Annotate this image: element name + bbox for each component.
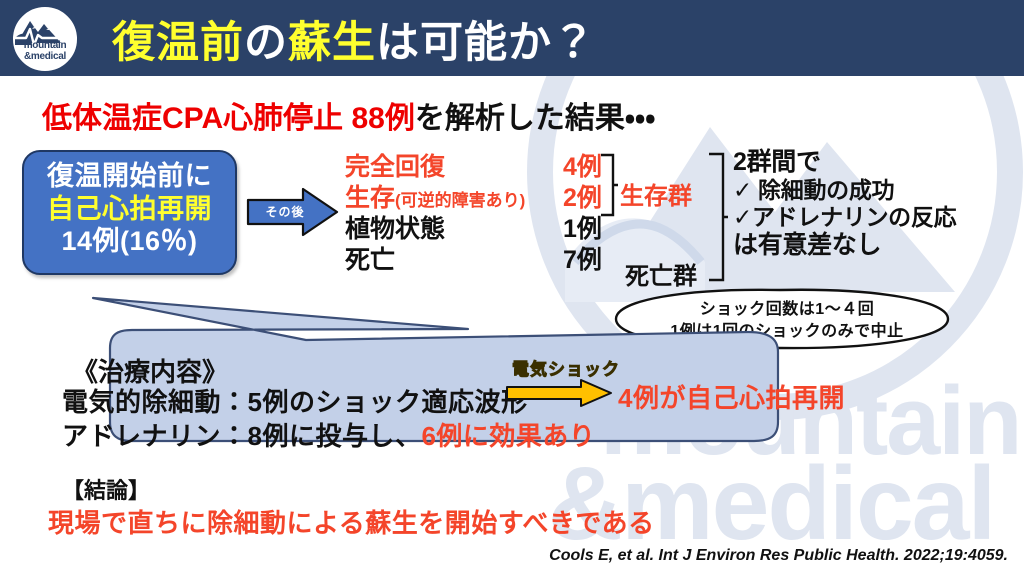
- title-segment-1: 復温前: [112, 19, 244, 67]
- bluebox-line-3: 14例(16％): [24, 225, 235, 258]
- electric-shock-arrow-icon: [505, 378, 613, 408]
- electric-shock-label: 電気ショック: [512, 355, 620, 380]
- outcome-row: 植物状態 1例: [345, 214, 665, 245]
- logo-text-mountain: mountain: [13, 41, 77, 51]
- group-label-survivors: 生存群: [620, 176, 692, 211]
- survivor-group-bracket: [597, 153, 619, 217]
- page-title: 復温前の蘇生は可能か？: [112, 8, 596, 70]
- analysis-line-3: ✓アドレナリンの反応: [733, 204, 1023, 231]
- title-segment-4: は可能か？: [376, 19, 596, 67]
- subtitle-red: 低体温症CPA心肺停止 88例: [42, 102, 415, 135]
- rosc-before-rewarming-box: 復温開始前に 自己心拍再開 14例(16％): [22, 150, 237, 275]
- analysis-line-1: 2群間で: [733, 148, 1023, 177]
- logo-text-medical: &medical: [13, 52, 77, 62]
- subtitle: 低体温症CPA心肺停止 88例を解析した結果・・・: [42, 93, 655, 137]
- shock-result-text: 4例が自己心拍再開: [618, 378, 845, 415]
- outcome-label: 植物状態: [345, 214, 445, 245]
- outcome-label: 生存(可逆的障害あり): [345, 183, 525, 216]
- bluebox-line-2: 自己心拍再開: [24, 193, 235, 226]
- adrenaline-text-black: アドレナリン：8例に投与し、: [62, 421, 421, 451]
- outcome-label-sub: (可逆的障害あり): [395, 191, 525, 210]
- conclusion-heading: 【結論】: [62, 473, 150, 505]
- after-arrow-label: その後: [256, 203, 314, 220]
- analysis-line-4: は有意差なし: [733, 231, 1023, 260]
- group-label-deceased: 死亡群: [625, 256, 697, 291]
- citation: Cools E, et al. Int J Environ Res Public…: [0, 547, 1008, 565]
- subtitle-black: を解析した結果・・・: [415, 102, 656, 135]
- treatment-adrenaline-line: アドレナリン：8例に投与し、6例に効果あり: [62, 416, 595, 453]
- outcome-label-main: 生存: [345, 184, 395, 212]
- outcome-row: 死亡 7例: [345, 245, 665, 276]
- slide-canvas: mountain &medical mountain &medical 復温前の…: [0, 0, 1024, 576]
- title-segment-3: 蘇生: [288, 19, 376, 67]
- logo-circle: mountain &medical: [10, 4, 80, 74]
- conclusion-body: 現場で直ちに除細動による蘇生を開始すべきである: [48, 503, 655, 540]
- outcome-value: 7例: [563, 245, 602, 276]
- adrenaline-text-red: 6例に効果あり: [421, 421, 595, 451]
- outcome-value: 1例: [563, 214, 602, 245]
- logo-badge: mountain &medical: [10, 6, 92, 70]
- bluebox-line-1: 復温開始前に: [24, 160, 235, 193]
- title-segment-2: の: [244, 19, 288, 67]
- outcome-label: 完全回復: [345, 152, 445, 183]
- outcome-label: 死亡: [345, 245, 395, 276]
- between-groups-analysis: 2群間で ✓ 除細動の成功 ✓アドレナリンの反応 は有意差なし: [733, 148, 1023, 260]
- comparison-bracket: [703, 152, 729, 282]
- analysis-line-2: ✓ 除細動の成功: [733, 177, 1023, 204]
- treatment-defibrillation-line: 電気的除細動：5例のショック適応波形: [62, 382, 527, 419]
